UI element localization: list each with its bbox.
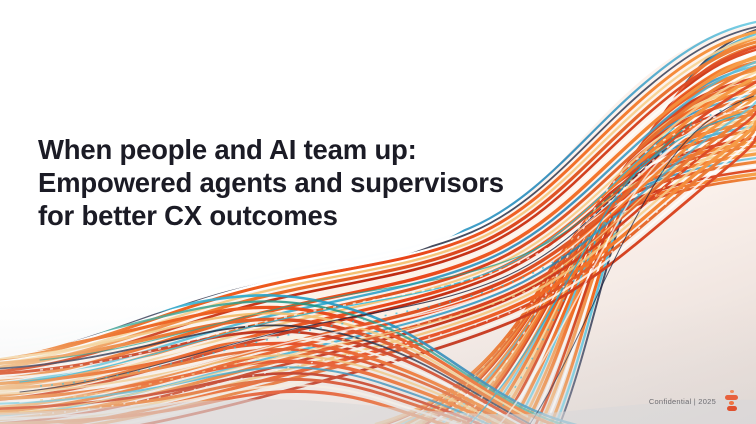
confidentiality-notice: Confidential | 2025	[649, 397, 716, 406]
presentation-slide: When people and AI team up: Empowered ag…	[0, 0, 756, 424]
bottom-gradient-overlay	[0, 304, 756, 424]
slide-footer: Confidential | 2025	[649, 390, 738, 412]
slide-title: When people and AI team up: Empowered ag…	[38, 133, 538, 232]
title-line-1: When people and AI team up:	[38, 133, 538, 166]
title-line-2: Empowered agents and supervisors	[38, 166, 538, 199]
brand-logo-icon	[725, 390, 738, 412]
title-line-3: for better CX outcomes	[38, 199, 538, 232]
